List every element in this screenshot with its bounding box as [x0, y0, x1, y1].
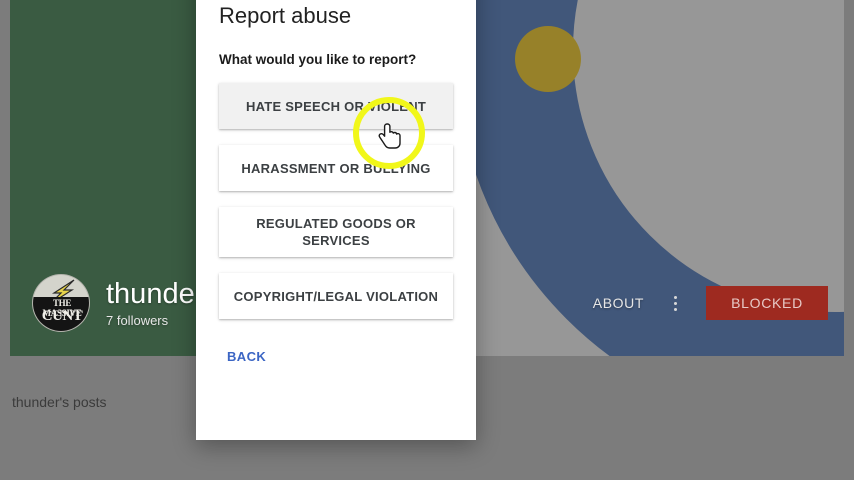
screen-root: THE MASSIVE CUNT thunder 7 followers ABO… — [0, 0, 854, 480]
dialog-question: What would you like to report? — [219, 52, 453, 67]
kebab-dot — [674, 296, 677, 299]
report-option-harassment[interactable]: HARASSMENT OR BULLYING — [219, 145, 453, 191]
kebab-menu-icon[interactable] — [658, 286, 692, 320]
profile-actions: ABOUT BLOCKED — [579, 286, 828, 320]
report-option-copyright[interactable]: COPYRIGHT/LEGAL VIOLATION — [219, 273, 453, 319]
kebab-dot — [674, 302, 677, 305]
kebab-dot — [674, 308, 677, 311]
profile-meta: thunder 7 followers — [106, 279, 204, 328]
report-options-list: HATE SPEECH OR VIOLENT HARASSMENT OR BUL… — [219, 83, 453, 319]
avatar[interactable]: THE MASSIVE CUNT — [32, 274, 90, 332]
follower-count: 7 followers — [106, 313, 204, 328]
report-option-regulated-goods[interactable]: REGULATED GOODS OR SERVICES — [219, 207, 453, 257]
avatar-text-bottom: CUNT — [33, 308, 90, 325]
about-tab[interactable]: ABOUT — [579, 295, 658, 311]
report-abuse-dialog: Report abuse What would you like to repo… — [196, 0, 476, 440]
blocked-button[interactable]: BLOCKED — [706, 286, 828, 320]
dialog-title: Report abuse — [219, 2, 453, 30]
banner-gold-circle — [515, 26, 581, 92]
posts-section-title: thunder's posts — [12, 394, 107, 410]
report-option-hate-speech[interactable]: HATE SPEECH OR VIOLENT — [219, 83, 453, 129]
back-button[interactable]: BACK — [217, 341, 276, 372]
profile-name: thunder — [106, 279, 204, 309]
